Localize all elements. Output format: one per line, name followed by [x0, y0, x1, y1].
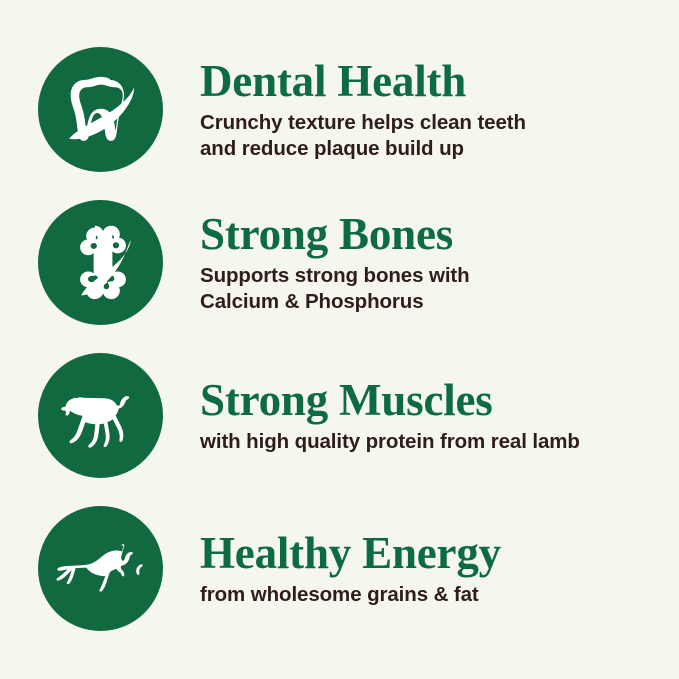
benefit-row: Strong Bones Supports strong bones with …	[0, 186, 679, 339]
leaping-dog-icon-badge	[38, 506, 163, 631]
benefit-description: Supports strong bones with Calcium & Pho…	[200, 263, 663, 315]
leaping-dog-icon	[51, 519, 151, 619]
benefits-panel: Dental Health Crunchy texture helps clea…	[0, 0, 679, 679]
benefit-title: Dental Health	[200, 57, 663, 106]
standing-dog-icon-badge	[38, 353, 163, 478]
benefit-text-block: Strong Muscles with high quality protein…	[200, 376, 679, 455]
benefit-text-block: Dental Health Crunchy texture helps clea…	[200, 57, 679, 162]
benefit-text-block: Strong Bones Supports strong bones with …	[200, 210, 679, 315]
benefit-row: Dental Health Crunchy texture helps clea…	[0, 33, 679, 186]
benefit-title: Strong Bones	[200, 210, 663, 259]
benefit-text-block: Healthy Energy from wholesome grains & f…	[200, 529, 679, 608]
tooth-leaf-icon	[55, 64, 147, 156]
benefit-row: Healthy Energy from wholesome grains & f…	[0, 492, 679, 645]
benefit-description: Crunchy texture helps clean teeth and re…	[200, 110, 663, 162]
benefit-description: from wholesome grains & fat	[200, 582, 663, 608]
benefit-title: Healthy Energy	[200, 529, 663, 578]
benefit-description: with high quality protein from real lamb	[200, 429, 663, 455]
benefit-title: Strong Muscles	[200, 376, 663, 425]
standing-dog-icon	[53, 368, 149, 464]
bone-leaf-icon	[55, 217, 147, 309]
benefit-row: Strong Muscles with high quality protein…	[0, 339, 679, 492]
tooth-leaf-icon-badge	[38, 47, 163, 172]
bone-leaf-icon-badge	[38, 200, 163, 325]
